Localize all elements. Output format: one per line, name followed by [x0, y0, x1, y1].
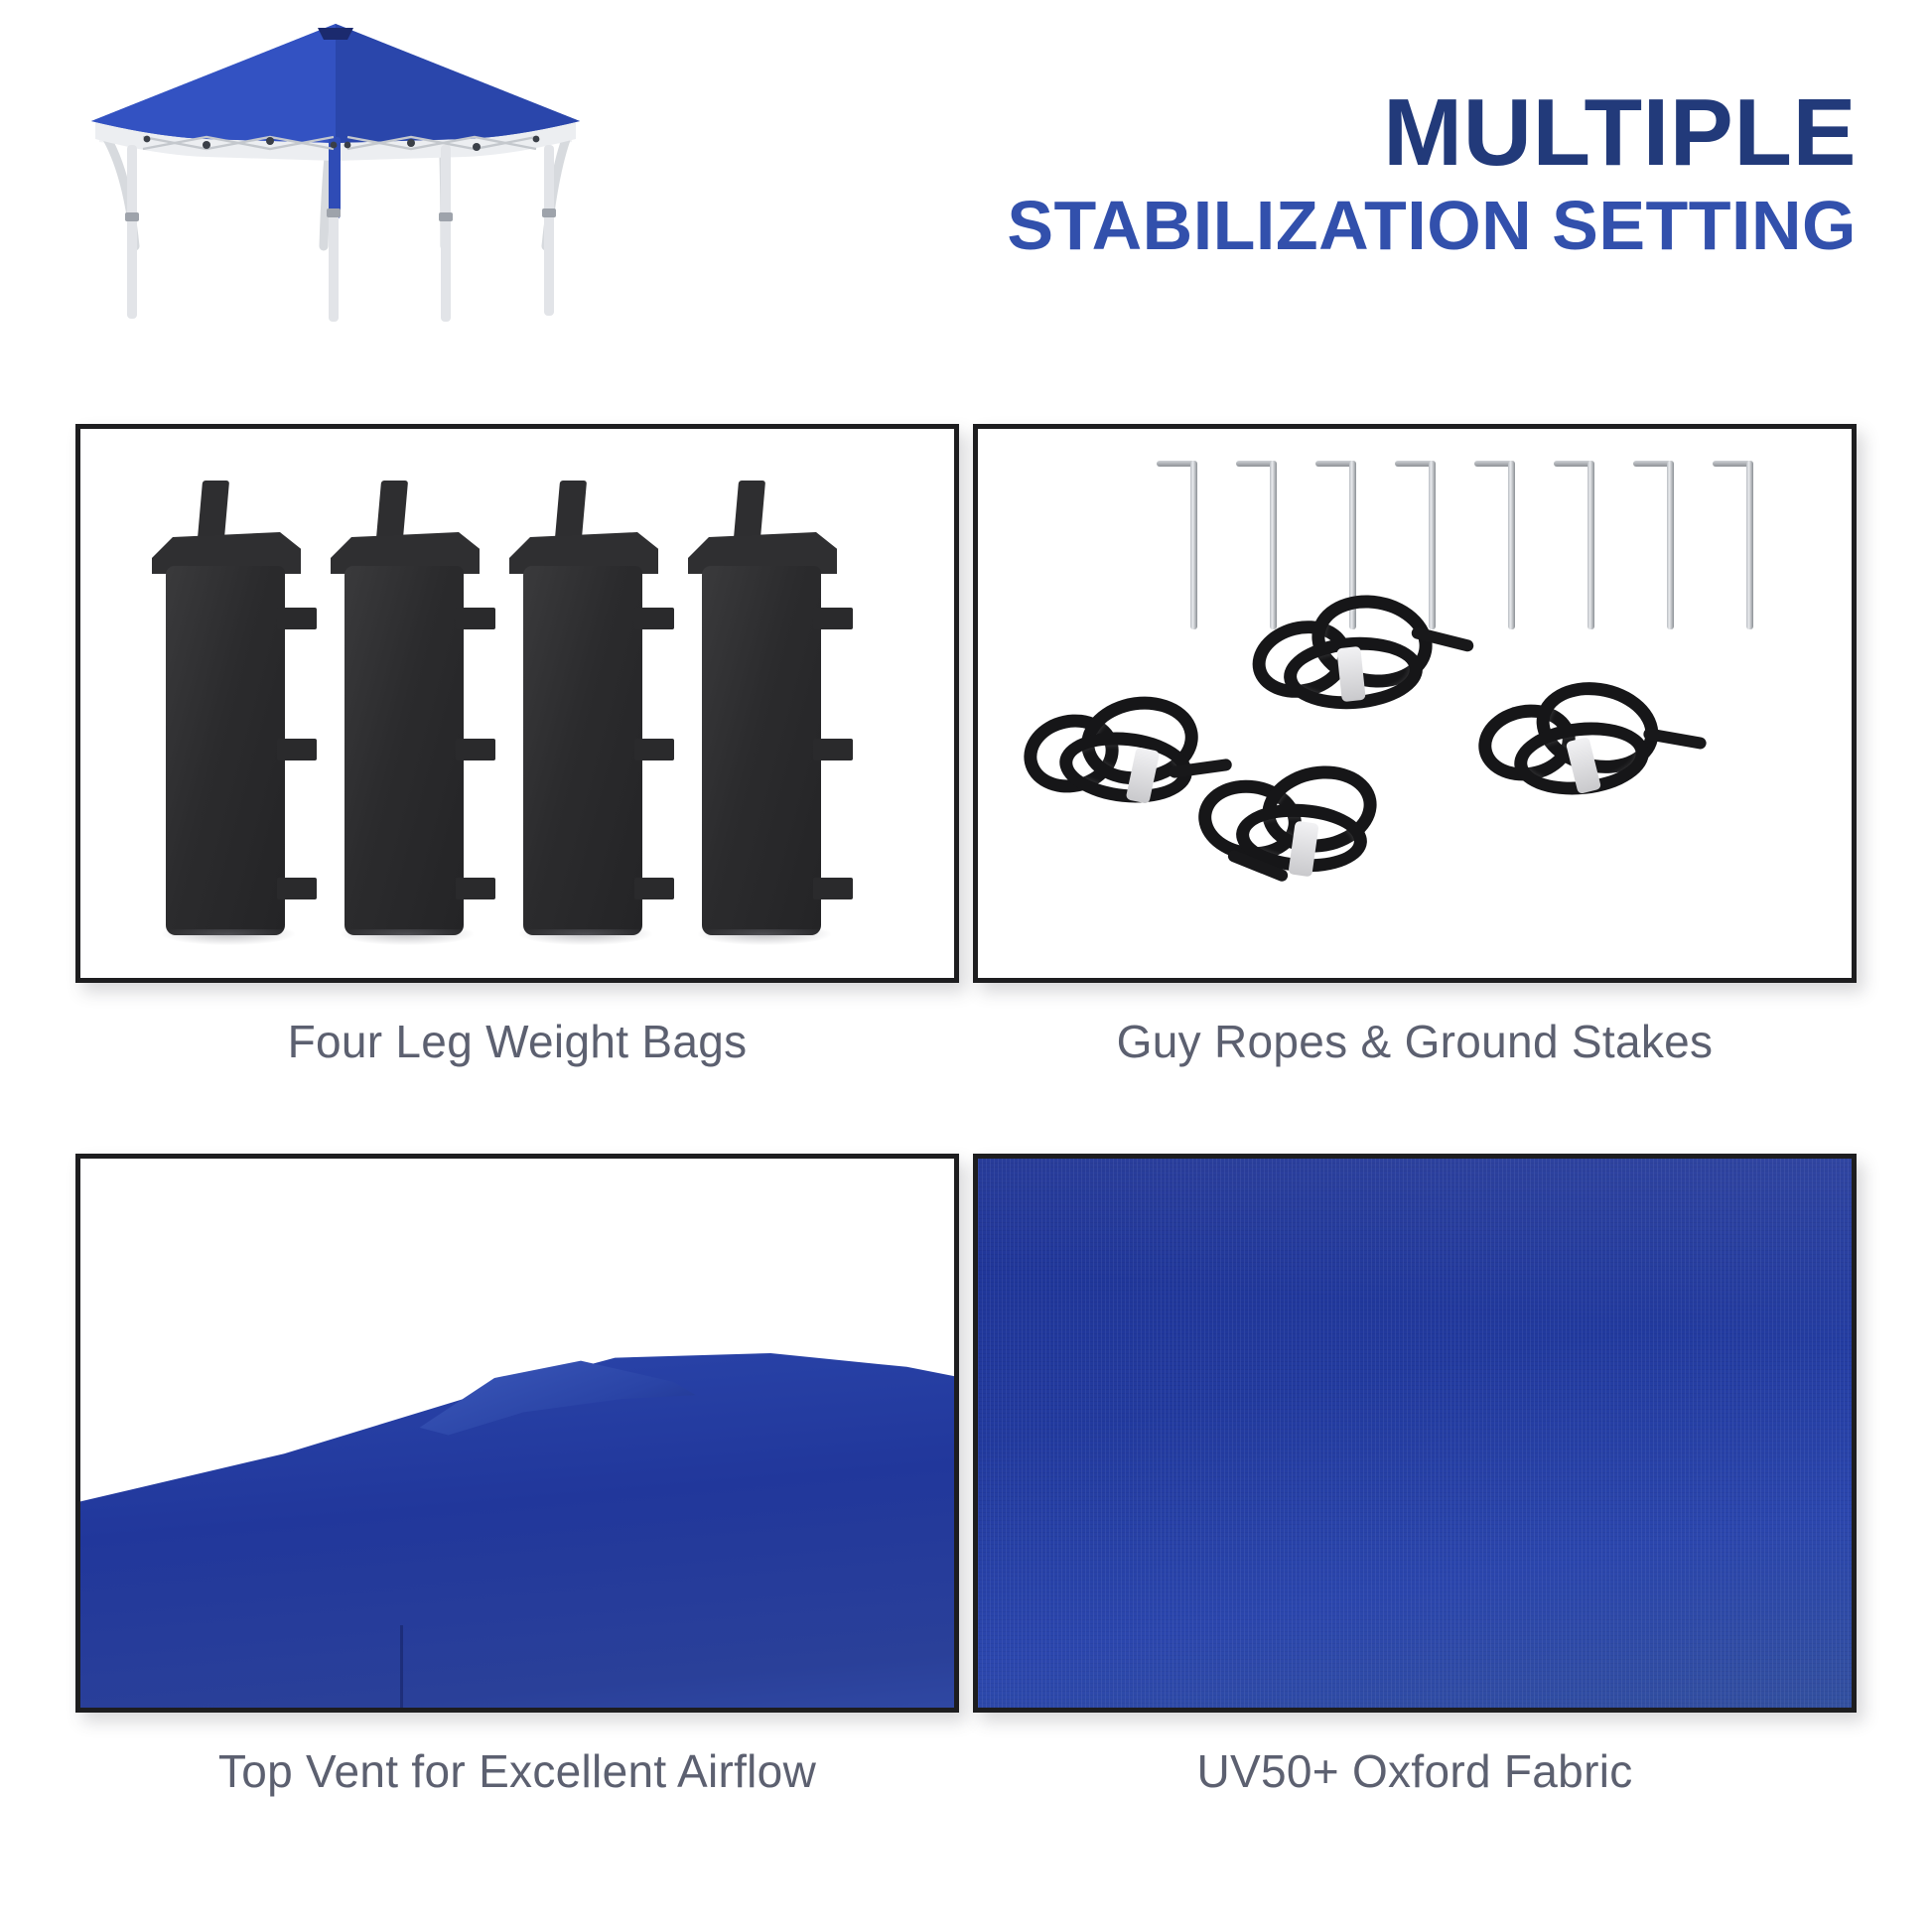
panel-four-leg-weight-bags: [75, 424, 959, 983]
canopy-icon: [87, 18, 584, 326]
weight-bag-strap: [277, 878, 317, 899]
weight-bag-body: [345, 566, 464, 935]
weight-bag-icon: [688, 481, 837, 937]
weight-bag-strap: [456, 878, 495, 899]
weight-bag-strap: [813, 608, 853, 629]
weight-bag-strap: [634, 739, 674, 760]
weight-bag-body: [702, 566, 821, 935]
weight-bag-strap: [813, 739, 853, 760]
caption-uv50-oxford-fabric: UV50+ Oxford Fabric: [973, 1744, 1857, 1798]
page-title-secondary: STABILIZATION SETTING: [1007, 189, 1857, 262]
caption-four-leg-weight-bags: Four Leg Weight Bags: [75, 1015, 959, 1068]
ground-stake-shaft: [1667, 461, 1674, 629]
weight-bag-icon: [152, 481, 301, 937]
title-block: MULTIPLE STABILIZATION SETTING: [1007, 85, 1857, 262]
weight-bag-strap: [813, 878, 853, 899]
weight-bag-shadow: [698, 929, 831, 945]
page-title-primary: MULTIPLE: [1007, 85, 1857, 181]
weight-bag-shadow: [162, 929, 295, 945]
canopy-seam: [400, 1625, 403, 1713]
weight-bag-strap: [277, 608, 317, 629]
ground-stake-shaft: [1190, 461, 1197, 629]
fabric-weave-texture: [978, 1159, 1852, 1708]
guy-rope-coil-icon: [1248, 592, 1496, 731]
canopy-illustration: [87, 18, 584, 326]
fabric-illustration: [978, 1159, 1852, 1708]
guy-rope-coil-icon: [1192, 757, 1441, 896]
panel-top-vent-airflow: [75, 1154, 959, 1713]
top-vent-illustration: [80, 1159, 954, 1708]
caption-guy-ropes-ground-stakes: Guy Ropes & Ground Stakes: [973, 1015, 1857, 1068]
caption-top-vent-airflow: Top Vent for Excellent Airflow: [75, 1744, 959, 1798]
ground-stake-shaft: [1746, 461, 1753, 629]
weight-bag-strap: [277, 739, 317, 760]
panel-guy-ropes-ground-stakes: [973, 424, 1857, 983]
weight-bag-strap: [634, 878, 674, 899]
weight-bag-icon: [331, 481, 480, 937]
weight-bag-strap: [456, 608, 495, 629]
guy-rope-coil-icon: [1476, 677, 1725, 816]
ground-stake-shaft: [1508, 461, 1515, 629]
weight-bag-shadow: [341, 929, 474, 945]
weight-bag-body: [166, 566, 285, 935]
weight-bag-shadow: [519, 929, 652, 945]
panel-uv50-oxford-fabric: [973, 1154, 1857, 1713]
ropes-and-stakes-illustration: [978, 429, 1852, 978]
weight-bag-icon: [509, 481, 658, 937]
ground-stake-shaft: [1587, 461, 1594, 629]
weight-bag-strap: [634, 608, 674, 629]
weight-bag-body: [523, 566, 642, 935]
header-banner: MULTIPLE STABILIZATION SETTING: [0, 0, 1932, 397]
weight-bag-strap: [456, 739, 495, 760]
weight-bags-illustration: [80, 429, 954, 978]
